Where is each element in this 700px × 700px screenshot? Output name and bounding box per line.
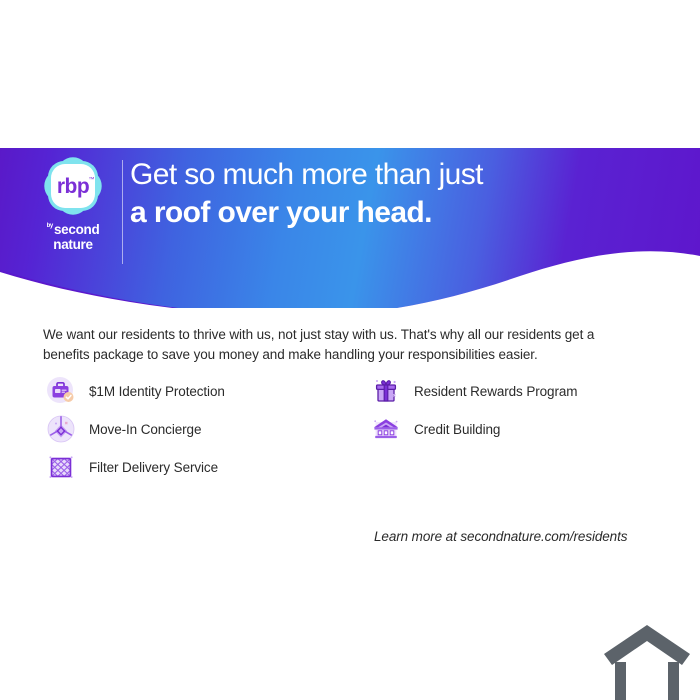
briefcase-shield-icon [45,375,77,407]
open-box-icon [45,413,77,445]
benefit-item-move-in-concierge: Move-In Concierge [45,410,365,448]
headline-line-1: Get so much more than just [130,158,483,193]
benefit-item-identity-protection: $1M Identity Protection [45,372,365,410]
benefits-left-column: $1M Identity Protection [45,372,365,486]
house-outline-icon [602,622,692,700]
benefit-label: Move-In Concierge [89,422,201,437]
rbp-logo-lockup: rbp ™ bysecond nature [36,154,110,252]
learn-more-text: Learn more at secondnature.com/residents [374,529,627,544]
banner-content: rbp ™ bysecond nature Get so much more t… [0,148,700,308]
benefit-item-resident-rewards: Resident Rewards Program [370,372,655,410]
hero-banner: rbp ™ bysecond nature Get so much more t… [0,148,700,308]
flyer-page: rbp ™ bysecond nature Get so much more t… [0,0,700,700]
benefit-label: $1M Identity Protection [89,384,225,399]
benefits-right-column: Resident Rewards Program [370,372,655,448]
svg-text:rbp: rbp [57,175,89,198]
benefit-label: Filter Delivery Service [89,460,218,475]
logo-by-label: by [47,223,53,229]
logo-headline-divider [122,160,123,264]
benefit-label: Credit Building [414,422,500,437]
intro-paragraph: We want our residents to thrive with us,… [43,325,643,366]
gift-box-icon [370,375,402,407]
rbp-flower-logo-icon: rbp ™ [41,154,105,218]
bank-building-icon [370,413,402,445]
headline-line-2: a roof over your head. [130,196,483,231]
logo-brand-line2: nature [36,238,110,252]
benefit-item-filter-delivery: Filter Delivery Service [45,448,365,486]
banner-headline: Get so much more than just a roof over y… [130,158,483,230]
air-filter-icon [45,451,77,483]
logo-brand-line1: second [54,222,99,237]
benefit-label: Resident Rewards Program [414,384,577,399]
svg-text:™: ™ [89,176,95,183]
benefit-item-credit-building: Credit Building [370,410,655,448]
second-nature-wordmark: bysecond nature [36,222,110,252]
